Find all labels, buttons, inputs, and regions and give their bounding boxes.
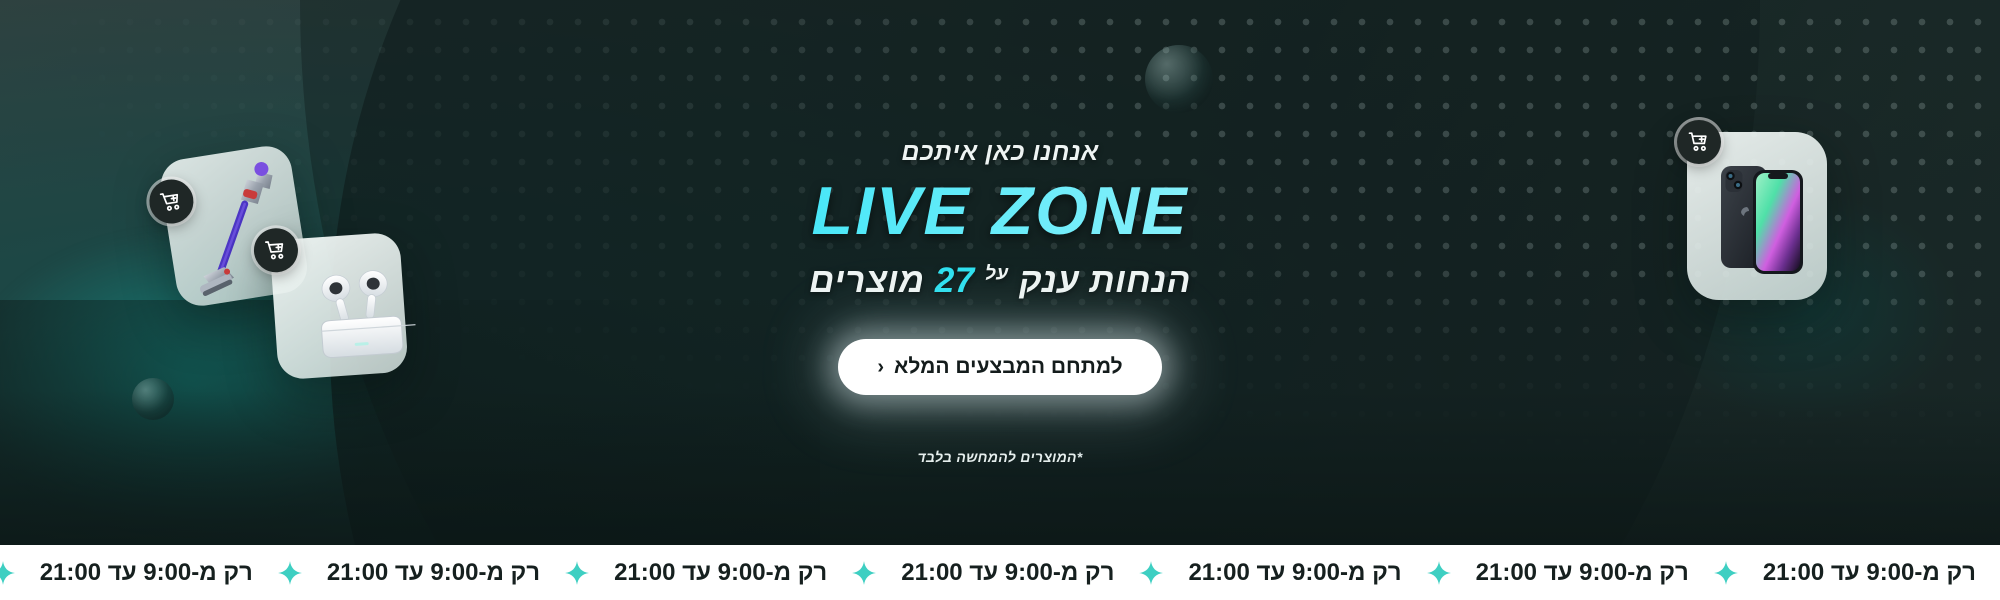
eyebrow-text: אנחנו כאן איתכם	[0, 138, 2000, 167]
sparkle-diamond-icon	[277, 560, 303, 586]
hours-ticker-bar: רק מ-9:00 עד 21:00רק מ-9:00 עד 21:00רק מ…	[0, 545, 2000, 600]
ticker-track: רק מ-9:00 עד 21:00רק מ-9:00 עד 21:00רק מ…	[0, 559, 2000, 587]
ticker-item: רק מ-9:00 עד 21:00	[1739, 559, 2000, 587]
page-title: LIVE ZONE	[0, 177, 2000, 245]
subtitle: הנחות ענק על 27 מוצרים	[0, 261, 2000, 301]
subtitle-suffix: מוצרים	[809, 261, 925, 300]
banner-content: אנחנו כאן איתכם LIVE ZONE הנחות ענק על 2…	[0, 0, 2000, 465]
sparkle-diamond-icon	[1426, 560, 1452, 586]
sparkle-diamond-icon	[1138, 560, 1164, 586]
sparkle-diamond-icon	[851, 560, 877, 586]
cta-container: למתחם המבצעים המלא ‹	[0, 339, 2000, 395]
ticker-item: רק מ-9:00 עד 21:00	[877, 559, 1138, 587]
subtitle-small-word: על	[985, 263, 1009, 284]
live-zone-banner: אנחנו כאן איתכם LIVE ZONE הנחות ענק על 2…	[0, 0, 2000, 600]
ticker-item: רק מ-9:00 עד 21:00	[303, 559, 564, 587]
ticker-item: רק מ-9:00 עד 21:00	[590, 559, 851, 587]
product-count: 27	[935, 261, 975, 300]
cta-label: למתחם המבצעים המלא	[894, 355, 1123, 379]
ticker-item: רק מ-9:00 עד 21:00	[1452, 559, 1713, 587]
ticker-item: רק מ-9:00 עד 21:00	[16, 559, 277, 587]
sparkle-diamond-icon	[0, 560, 16, 586]
sparkle-diamond-icon	[1713, 560, 1739, 586]
ticker-item: רק מ-9:00 עד 21:00	[1164, 559, 1425, 587]
chevron-left-icon: ‹	[877, 357, 884, 377]
view-all-deals-button[interactable]: למתחם המבצעים המלא ‹	[838, 339, 1162, 395]
sparkle-diamond-icon	[564, 560, 590, 586]
subtitle-prefix: הנחות ענק	[1019, 261, 1191, 300]
disclaimer-text: *המוצרים להמחשה בלבד	[0, 449, 2000, 465]
